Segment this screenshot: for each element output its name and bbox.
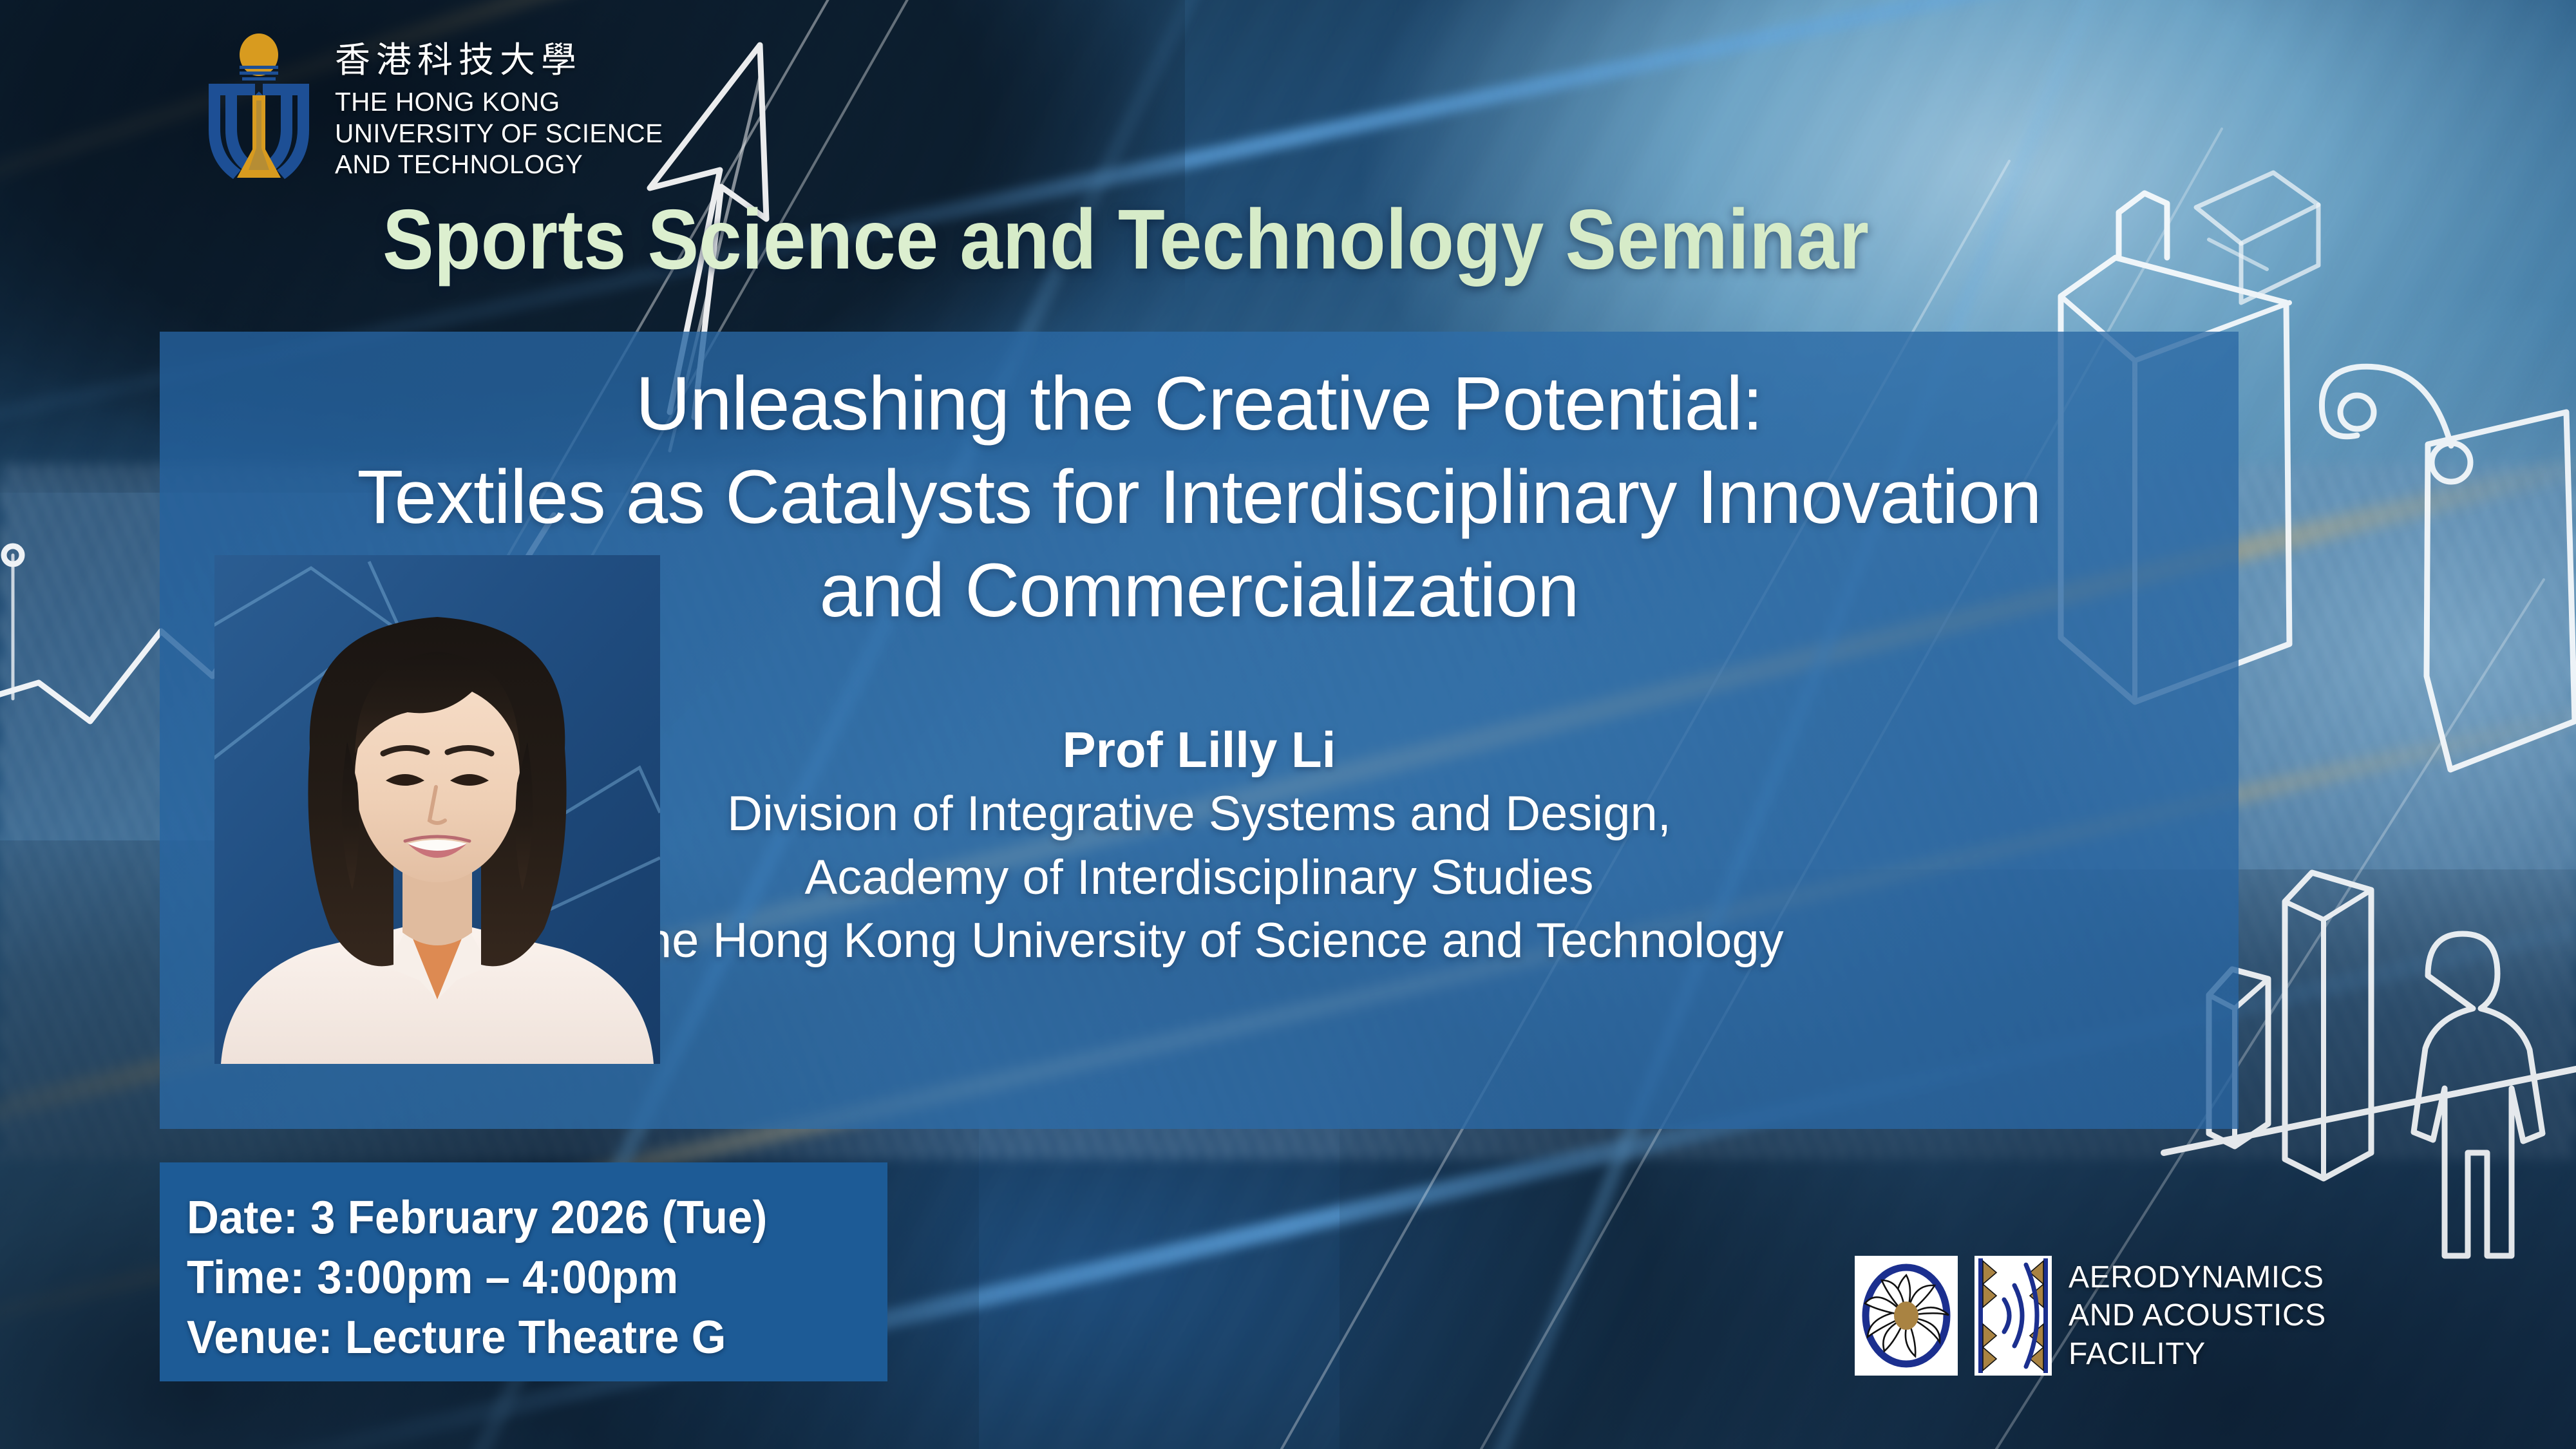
event-date: Date: 3 February 2026 (Tue) bbox=[187, 1188, 859, 1248]
event-time: Time: 3:00pm – 4:00pm bbox=[187, 1248, 859, 1308]
seminar-poster: 香港科技大學 THE HONG KONG UNIVERSITY OF SCIEN… bbox=[0, 0, 2576, 1449]
aaf-logo: AERODYNAMICS AND ACOUSTICS FACILITY bbox=[1855, 1256, 2326, 1376]
event-details-box: Date: 3 February 2026 (Tue) Time: 3:00pm… bbox=[160, 1162, 887, 1381]
series-headline: Sports Science and Technology Seminar bbox=[383, 197, 1869, 282]
fan-impeller-icon bbox=[1855, 1256, 1958, 1376]
aaf-line-3: FACILITY bbox=[2069, 1335, 2326, 1374]
event-venue: Venue: Lecture Theatre G bbox=[187, 1308, 859, 1368]
hkust-emblem-icon bbox=[205, 33, 313, 187]
speaker-photo bbox=[214, 555, 660, 1064]
headline-part-1: Sports Science bbox=[383, 192, 938, 287]
hkust-english-line-3: AND TECHNOLOGY bbox=[335, 149, 663, 180]
aaf-logo-text: AERODYNAMICS AND ACOUSTICS FACILITY bbox=[2069, 1258, 2326, 1374]
hkust-english-line-1: THE HONG KONG bbox=[335, 86, 663, 118]
acoustic-wave-icon bbox=[1975, 1256, 2052, 1376]
speaker-portrait-illustration bbox=[214, 555, 660, 1064]
aaf-line-2: AND ACOUSTICS bbox=[2069, 1296, 2326, 1335]
hkust-english-name: THE HONG KONG UNIVERSITY OF SCIENCE AND … bbox=[335, 86, 663, 180]
hkust-chinese-name: 香港科技大學 bbox=[335, 43, 663, 78]
aaf-line-1: AERODYNAMICS bbox=[2069, 1258, 2326, 1297]
hkust-logo: 香港科技大學 THE HONG KONG UNIVERSITY OF SCIEN… bbox=[205, 33, 663, 187]
hkust-english-line-2: UNIVERSITY OF SCIENCE bbox=[335, 118, 663, 149]
headline-part-2: and Technology Seminar bbox=[938, 192, 1869, 287]
talk-title-line-2: Textiles as Catalysts for Interdisciplin… bbox=[160, 451, 2239, 544]
talk-title-line-1: Unleashing the Creative Potential: bbox=[160, 357, 2239, 451]
hkust-logo-text: 香港科技大學 THE HONG KONG UNIVERSITY OF SCIEN… bbox=[335, 33, 663, 180]
